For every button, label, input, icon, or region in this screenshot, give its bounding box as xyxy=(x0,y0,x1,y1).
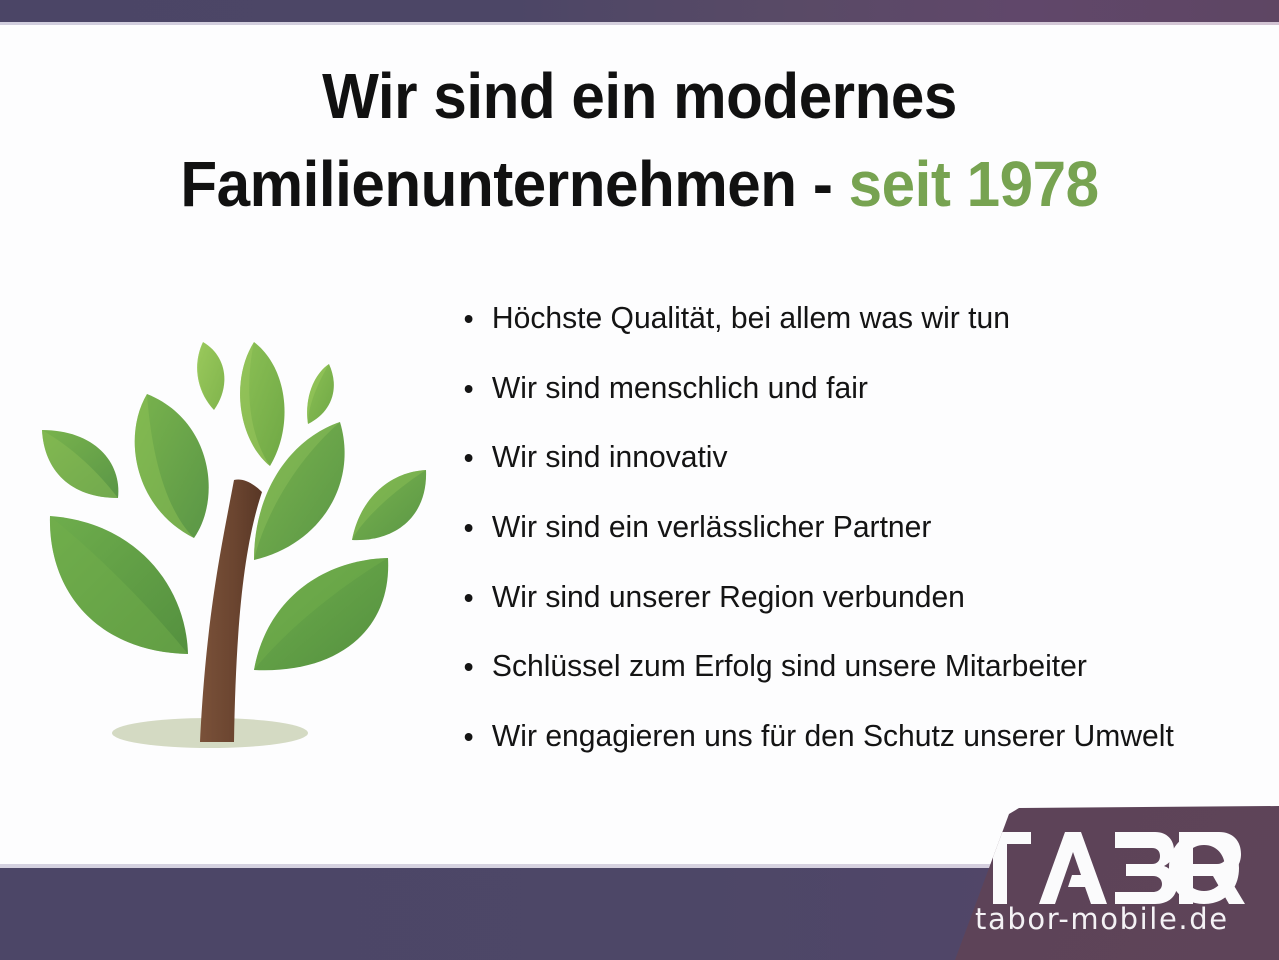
logo-url-label: tabor-mobile.de xyxy=(975,905,1229,934)
leaf-mid-right xyxy=(352,470,426,540)
bullet-dot-icon xyxy=(465,454,473,462)
leaf-top-right-small xyxy=(307,364,334,424)
bullet-dot-icon xyxy=(465,663,473,671)
logo-wordmark xyxy=(969,832,1245,904)
leaf-lower-right xyxy=(254,558,388,670)
top-accent-bar xyxy=(0,0,1279,22)
list-item: Wir sind ein verlässlicher Partner xyxy=(456,509,1251,545)
leaf-mid-left-small xyxy=(42,430,118,498)
list-item-label: Wir sind unserer Region verbunden xyxy=(492,579,965,614)
list-item: Wir sind innovativ xyxy=(456,439,1251,475)
stylized-tree-icon xyxy=(22,330,452,760)
list-item: Wir sind unserer Region verbunden xyxy=(456,579,1251,615)
headline-line-2: Familienunternehmen - seit 1978 xyxy=(38,140,1240,228)
bullet-dot-icon xyxy=(465,733,473,741)
bullet-dot-icon xyxy=(465,594,473,602)
list-item: Höchste Qualität, bei allem was wir tun xyxy=(456,300,1251,336)
list-item: Wir sind menschlich und fair xyxy=(456,370,1251,406)
headline-line-1: Wir sind ein modernes xyxy=(38,52,1240,140)
tree-trunk xyxy=(200,480,262,743)
bullet-dot-icon xyxy=(465,315,473,323)
headline-line-2-main: Familienunternehmen - xyxy=(180,148,848,220)
slide-canvas: Wir sind ein modernes Familienunternehme… xyxy=(0,0,1279,960)
list-item-label: Wir engagieren uns für den Schutz unsere… xyxy=(492,718,1174,753)
leaf-top-center xyxy=(240,342,284,466)
page-title: Wir sind ein modernes Familienunternehme… xyxy=(38,52,1240,229)
top-accent-hairline xyxy=(0,22,1279,25)
headline-accent: seit 1978 xyxy=(849,148,1099,220)
list-item-label: Schlüssel zum Erfolg sind unsere Mitarbe… xyxy=(492,648,1087,683)
list-item: Schlüssel zum Erfolg sind unsere Mitarbe… xyxy=(456,648,1251,684)
list-item-label: Wir sind innovativ xyxy=(492,439,728,474)
list-item-label: Wir sind menschlich und fair xyxy=(492,370,868,405)
list-item: Wir engagieren uns für den Schutz unsere… xyxy=(456,718,1251,754)
bullet-dot-icon xyxy=(465,524,473,532)
bullet-dot-icon xyxy=(465,385,473,393)
leaf-lower-left xyxy=(50,516,188,654)
leaf-top-left-small xyxy=(197,342,224,410)
bullet-list: Höchste Qualität, bei allem was wir tun … xyxy=(456,300,1276,753)
list-item-label: Wir sind ein verlässlicher Partner xyxy=(492,509,932,544)
list-item-label: Höchste Qualität, bei allem was wir tun xyxy=(492,300,1010,335)
leaf-upper-left xyxy=(135,394,209,538)
